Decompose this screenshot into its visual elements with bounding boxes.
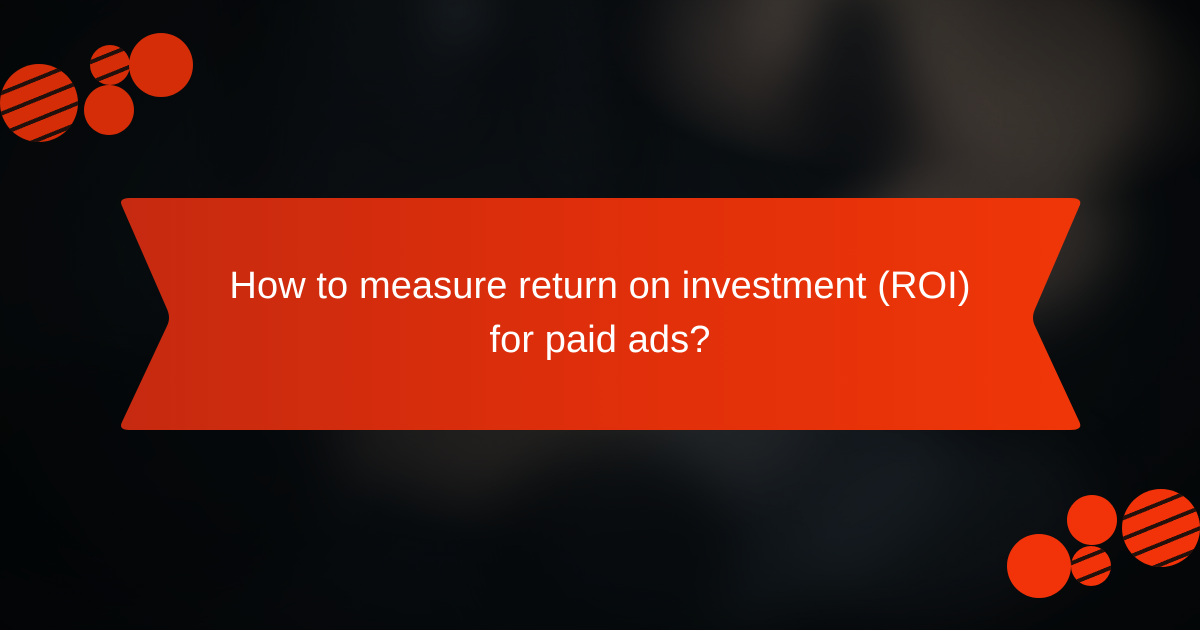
decor-circle-striped-large xyxy=(1122,489,1200,567)
poster-canvas: How to measure return on investment (ROI… xyxy=(0,0,1200,630)
decor-circles-top-left xyxy=(0,0,220,170)
banner-title-line-2: for paid ads? xyxy=(489,314,710,368)
decor-circle-solid-medium xyxy=(84,85,134,135)
decor-circle-striped-small xyxy=(1071,546,1111,586)
decor-circle-solid-medium xyxy=(1067,495,1117,545)
decor-circle-striped-small xyxy=(90,45,130,85)
decor-circle-solid-large xyxy=(1007,534,1071,598)
decor-circle-striped-large xyxy=(0,64,78,142)
decor-circles-bottom-right xyxy=(980,460,1200,630)
banner-title-line-1: How to measure return on investment (ROI… xyxy=(229,260,970,314)
banner-title: How to measure return on investment (ROI… xyxy=(110,196,1090,432)
title-ribbon-banner: How to measure return on investment (ROI… xyxy=(110,196,1090,432)
decor-circle-solid-large xyxy=(129,33,193,97)
